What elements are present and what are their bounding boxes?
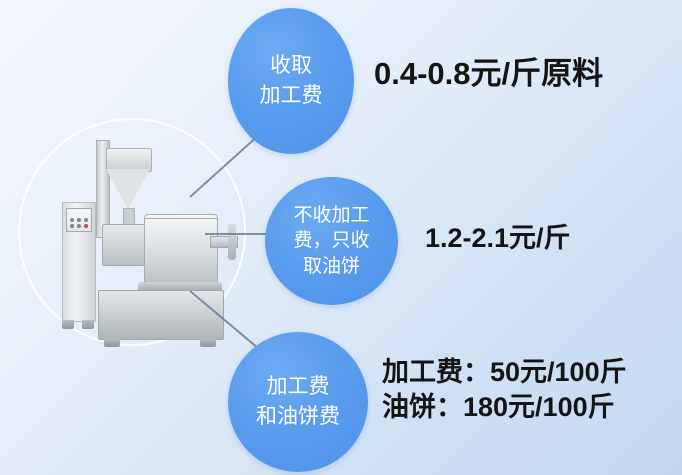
callout-3-line-1: 加工费：50元/100斤 (382, 355, 627, 390)
machine-foot (82, 320, 94, 329)
machine-cabinet (98, 290, 224, 340)
bubble-2-line-2: 费，只收 (293, 228, 369, 254)
infographic-canvas: 收取 加工费 不收加工 费，只收 取油饼 加工费 和油饼费 0.4-0.8元/斤… (0, 0, 682, 475)
machine-foot (200, 338, 216, 347)
machine-drum (144, 218, 218, 288)
callout-3-line-2: 油饼：180元/100斤 (382, 390, 627, 425)
machine-control-panel (66, 208, 92, 232)
option-bubble-1[interactable]: 收取 加工费 (228, 8, 354, 154)
machine-hopper-cone (106, 169, 150, 209)
bubble-1-line-1: 收取 (270, 51, 312, 81)
option-bubble-2[interactable]: 不收加工 费，只收 取油饼 (265, 177, 398, 305)
machine-wheel (228, 224, 236, 260)
callout-price-1: 0.4-0.8元/斤原料 (374, 48, 603, 93)
bubble-3-line-2: 和油饼费 (256, 402, 340, 432)
callout-price-3: 加工费：50元/100斤 油饼：180元/100斤 (382, 355, 627, 424)
bubble-2-line-3: 取油饼 (303, 254, 360, 280)
machine-foot (104, 338, 120, 347)
bubble-1-line-2: 加工费 (260, 81, 323, 111)
bubble-3-line-1: 加工费 (267, 372, 330, 402)
machine-foot (62, 320, 74, 329)
bubble-2-line-1: 不收加工 (293, 203, 369, 229)
option-bubble-3[interactable]: 加工费 和油饼费 (228, 332, 368, 472)
callout-price-2: 1.2-2.1元/斤 (425, 216, 571, 255)
oil-press-machine-image (40, 140, 230, 345)
